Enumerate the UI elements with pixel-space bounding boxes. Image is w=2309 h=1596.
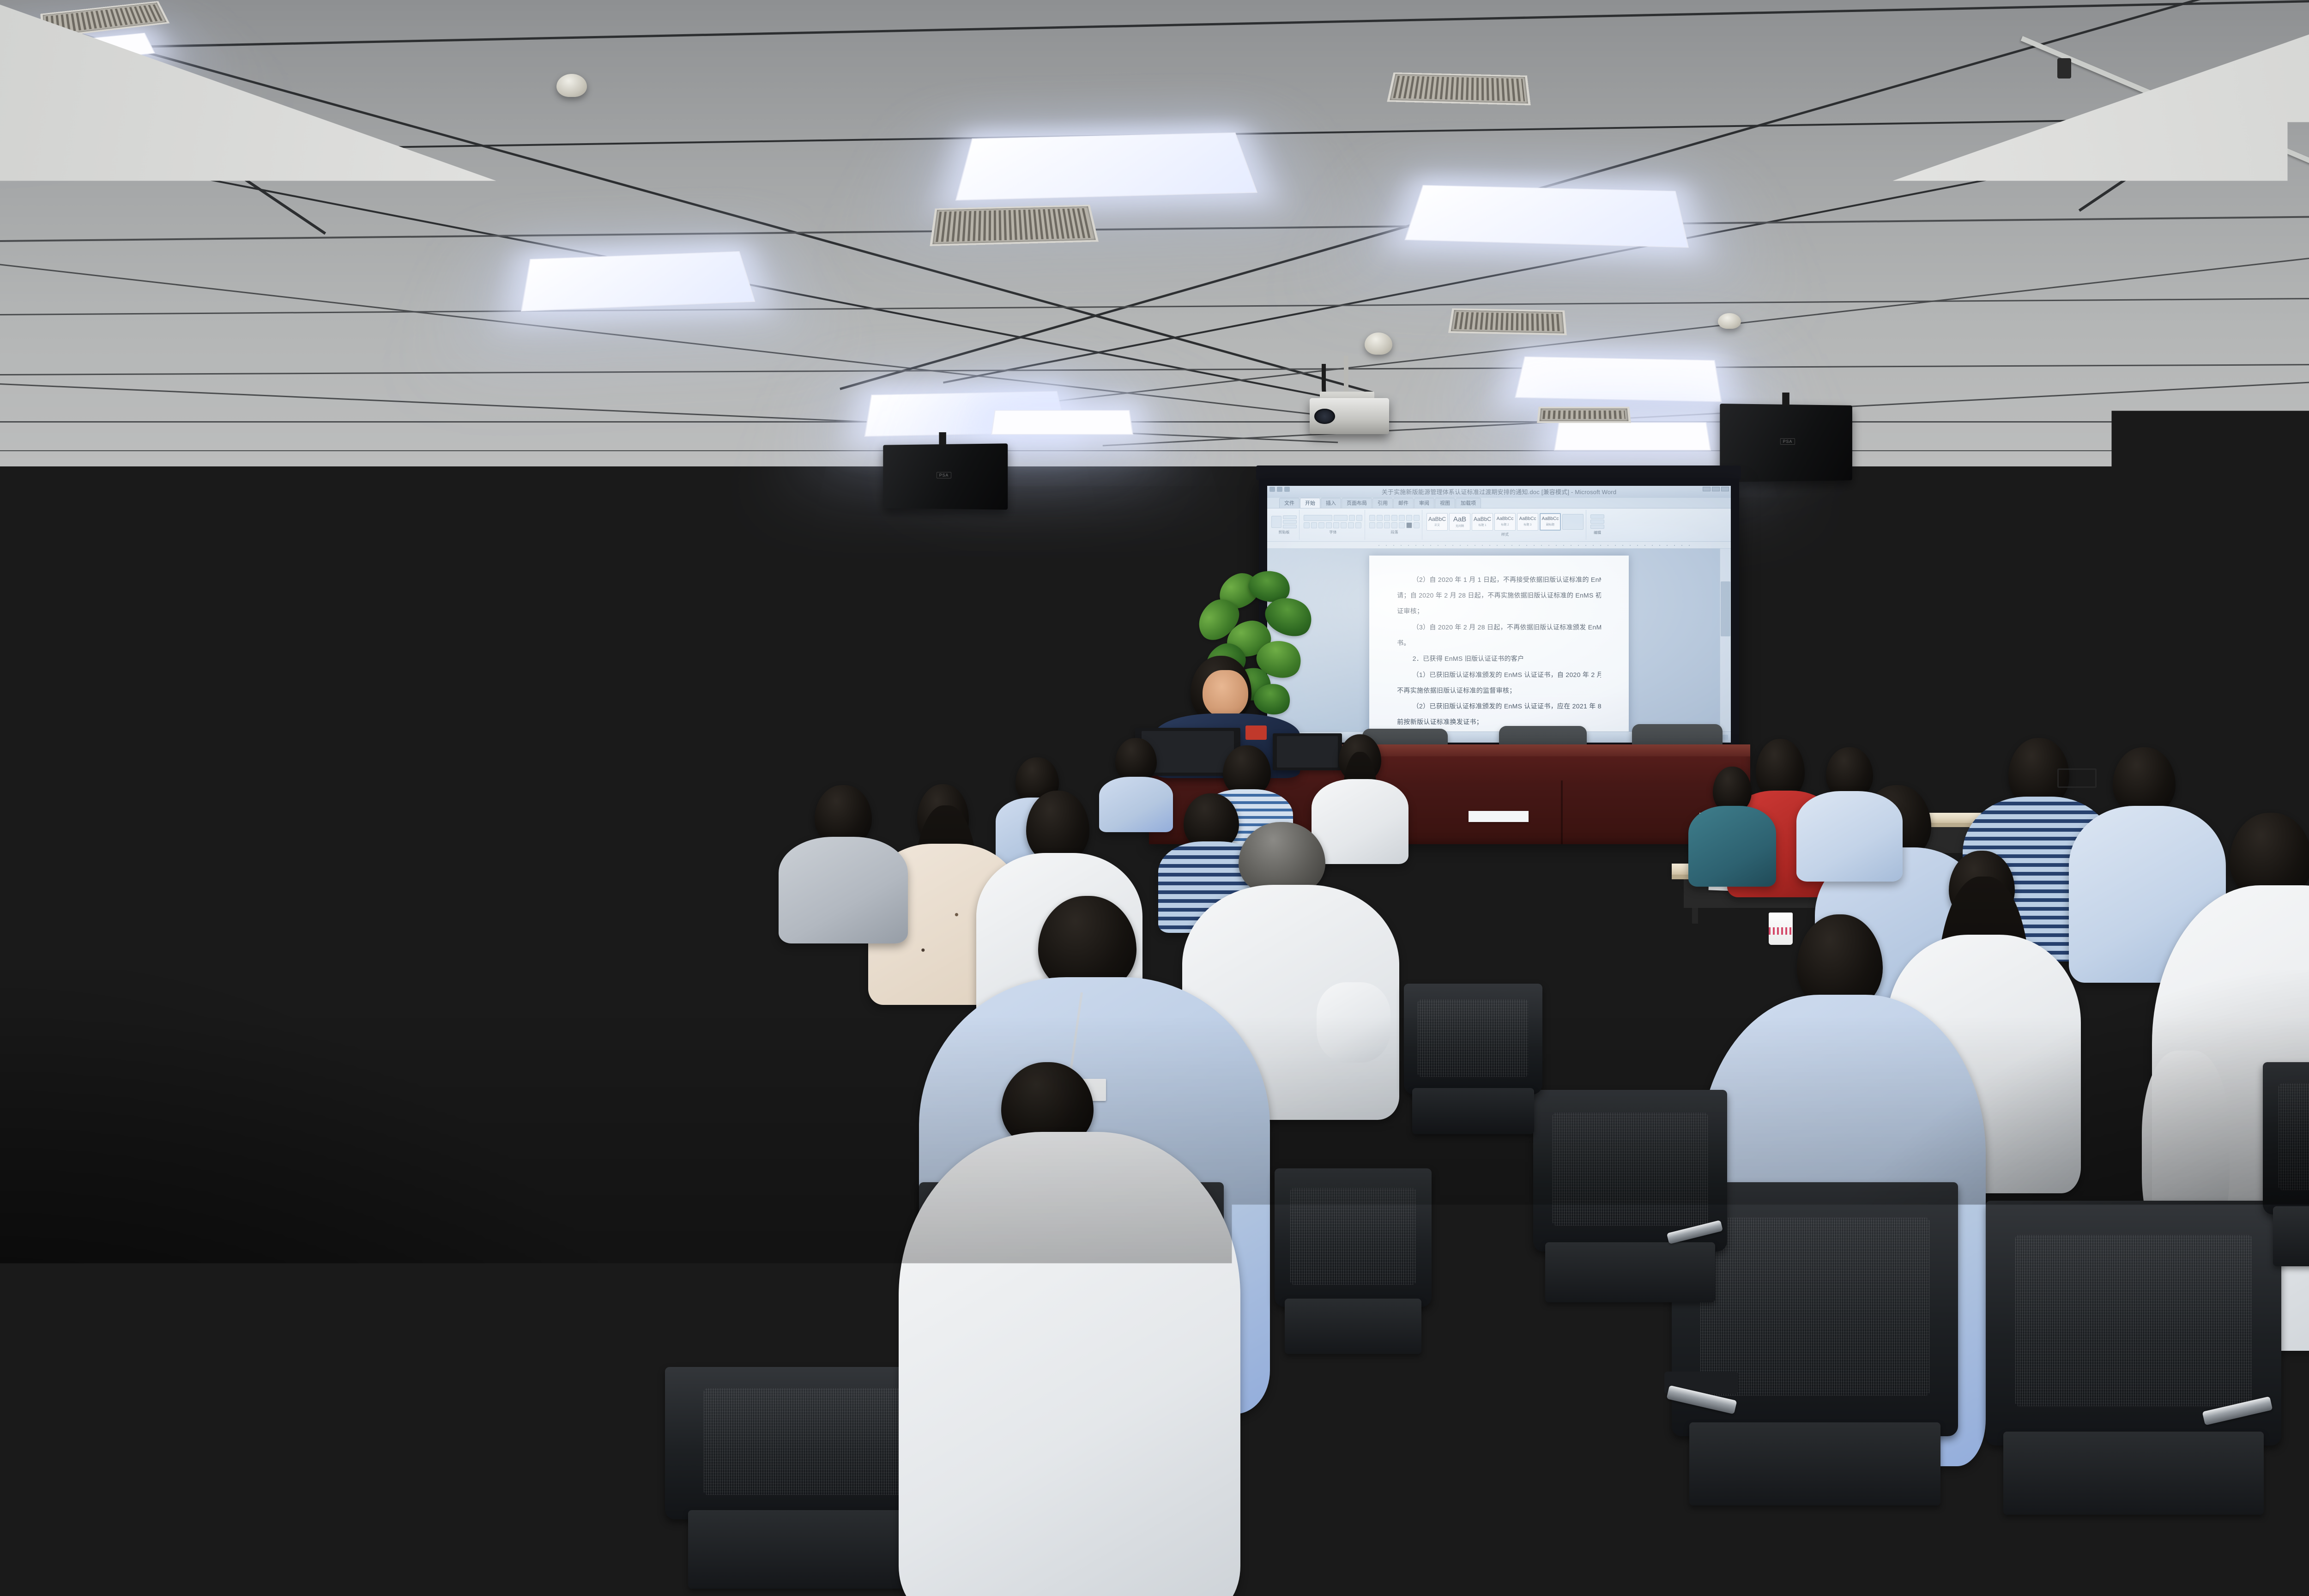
numbering-icon[interactable] bbox=[1377, 515, 1383, 521]
text-color-icon[interactable] bbox=[1348, 522, 1354, 528]
led-panel-light bbox=[955, 133, 1257, 201]
tab-mailings[interactable]: 邮件 bbox=[1393, 498, 1414, 508]
poster-right-1: 互 bbox=[2074, 462, 2105, 715]
ribbon-group-font[interactable]: 字体 bbox=[1301, 510, 1365, 540]
wall-speaker-left: PSA bbox=[883, 443, 1008, 509]
style-heading-2[interactable]: AaBbCc 标题 2 bbox=[1494, 513, 1516, 531]
projection-screen-surface: 关于实施新版能源管理体系认证标准过渡期安排的通知.doc [兼容模式] - Mi… bbox=[1267, 486, 1731, 743]
ribbon-group-clipboard[interactable]: 剪贴板 bbox=[1269, 510, 1300, 540]
tab-references[interactable]: 引用 bbox=[1372, 498, 1393, 508]
quick-access-toolbar[interactable] bbox=[1269, 487, 1290, 492]
strikethrough-icon[interactable] bbox=[1326, 522, 1332, 528]
doc-line: 不再实施依据旧版认证标准的监督审核； bbox=[1397, 683, 1601, 698]
tab-home[interactable]: 开始 bbox=[1300, 498, 1320, 508]
align-center-icon[interactable] bbox=[1377, 522, 1383, 528]
doc-line: （2）自 2020 年 1 月 1 日起，不再接受依据旧版认证标准的 EnMS … bbox=[1397, 572, 1601, 587]
ribbon-group-label: 编辑 bbox=[1590, 530, 1604, 535]
doc-line: 2．已获得 EnMS 旧版认证证书的客户 bbox=[1397, 651, 1601, 666]
font-name-box[interactable] bbox=[1304, 515, 1332, 521]
doc-line: 书。 bbox=[1397, 635, 1601, 651]
paste-icon[interactable] bbox=[1271, 516, 1281, 528]
restroom-sign-text: 洗手间 bbox=[1804, 598, 1841, 612]
font-size-box[interactable] bbox=[1334, 515, 1348, 521]
tab-addins[interactable]: 加载项 bbox=[1456, 498, 1481, 508]
close-icon[interactable] bbox=[1721, 487, 1729, 491]
projection-screen-frame: 关于实施新版能源管理体系认证标准过渡期安排的通知.doc [兼容模式] - Mi… bbox=[1259, 478, 1739, 751]
poster-mutual-aid: 中国质量认证中心China Quality Certification Cent… bbox=[2178, 416, 2284, 747]
ribbon-group-label: 样式 bbox=[1427, 532, 1584, 537]
ribbon[interactable]: 剪贴板 bbox=[1267, 508, 1731, 542]
door-handle[interactable] bbox=[1765, 670, 1770, 695]
poster-new-era: 新时期 新气象 新作为 bbox=[283, 472, 407, 763]
tab-page-layout[interactable]: 页面布局 bbox=[1342, 498, 1372, 508]
word-application-window[interactable]: 关于实施新版能源管理体系认证标准过渡期安排的通知.doc [兼容模式] - Mi… bbox=[1267, 486, 1731, 743]
attendee-right-row2-teal bbox=[1688, 767, 1776, 882]
folded-jacket bbox=[484, 1021, 632, 1090]
attendee-left-row2-olive bbox=[247, 781, 505, 1109]
led-panel-light bbox=[1404, 185, 1689, 248]
style-normal[interactable]: AaBbC 正文 bbox=[1427, 513, 1448, 531]
ribbon-group-label: 段落 bbox=[1369, 530, 1420, 535]
horizontal-ruler[interactable] bbox=[1267, 542, 1731, 548]
minimize-icon[interactable] bbox=[1703, 487, 1711, 491]
ribbon-group-label: 字体 bbox=[1304, 530, 1362, 535]
document-paper bbox=[1469, 811, 1529, 822]
speaker-bracket bbox=[1783, 393, 1790, 405]
shrink-font-icon[interactable] bbox=[1356, 515, 1362, 521]
photo-scene: 新时期 新气象 新作为 观大局 做大事 干实事 互 中国质量认证中心China … bbox=[0, 0, 2309, 1596]
style-heading-1[interactable]: AaBbC 标题 1 bbox=[1472, 513, 1493, 531]
mesh-office-chair[interactable] bbox=[1986, 1201, 2281, 1596]
cut-icon[interactable] bbox=[1283, 515, 1297, 519]
word-document-title: 关于实施新版能源管理体系认证标准过渡期安排的通知.doc [兼容模式] - Mi… bbox=[1382, 487, 1617, 496]
word-title-bar: 关于实施新版能源管理体系认证标准过渡期安排的通知.doc [兼容模式] - Mi… bbox=[1267, 486, 1731, 498]
ribbon-group-editing[interactable]: 编辑 bbox=[1588, 510, 1607, 540]
indent-decrease-icon[interactable] bbox=[1391, 515, 1397, 521]
mesh-office-chair[interactable] bbox=[1533, 1090, 1727, 1348]
style-no-spacing[interactable]: AaB 无间隔 bbox=[1449, 513, 1470, 531]
attendee-left-row4-grey bbox=[779, 785, 908, 937]
restore-icon[interactable] bbox=[1712, 487, 1720, 491]
format-painter-icon[interactable] bbox=[1283, 525, 1297, 528]
doc-line-with-selection: （2）已获旧版认证标准颁发的 EnMS 认证证书，应在 2021 年 8 月 3… bbox=[1397, 698, 1601, 714]
multilevel-icon[interactable] bbox=[1384, 515, 1390, 521]
speaker-brand-label: PSA bbox=[937, 472, 951, 478]
ribbon-group-styles[interactable]: AaBbC 正文 AaB 无间隔 AaBbC 标题 1 bbox=[1424, 510, 1586, 540]
silhouette-figures-icon bbox=[564, 598, 633, 724]
find-icon[interactable] bbox=[1590, 514, 1604, 519]
hvac-vent bbox=[1387, 73, 1530, 105]
highlight-icon[interactable] bbox=[1355, 522, 1361, 528]
ribbon-group-paragraph[interactable]: 段落 bbox=[1367, 510, 1422, 540]
tab-view[interactable]: 视图 bbox=[1435, 498, 1455, 508]
poster-big-picture: 观大局 做大事 干实事 bbox=[560, 504, 638, 726]
attendee-foreground-left-pinstripe bbox=[0, 1076, 286, 1596]
tab-file[interactable]: 文件 bbox=[1279, 498, 1300, 508]
justify-icon[interactable] bbox=[1391, 522, 1397, 528]
scrollbar-thumb[interactable] bbox=[1721, 581, 1730, 636]
mesh-office-chair[interactable] bbox=[1404, 984, 1542, 1159]
document-canvas[interactable]: （2）自 2020 年 1 月 1 日起，不再接受依据旧版认证标准的 EnMS … bbox=[1267, 549, 1731, 731]
line-spacing-icon[interactable] bbox=[1399, 522, 1405, 528]
style-subtitle[interactable]: AaBbCc 副标题 bbox=[1540, 513, 1561, 531]
select-icon[interactable] bbox=[1590, 525, 1604, 529]
smoke-detector-icon bbox=[556, 74, 587, 97]
doc-line: （3）自 2020 年 2 月 28 日起，不再依据旧版认证标准颁发 EnMS … bbox=[1397, 619, 1601, 635]
poster-subtext-mutual-aid: 团结互助 同舟共济 共创未来 bbox=[2231, 490, 2237, 641]
ribbon-group-label: 剪贴板 bbox=[1271, 530, 1297, 535]
copy-icon[interactable] bbox=[1283, 520, 1297, 524]
grow-font-icon[interactable] bbox=[1349, 515, 1355, 521]
bullets-icon[interactable] bbox=[1369, 515, 1375, 521]
attendee-right-row2-lblue-b bbox=[1796, 747, 1903, 877]
style-heading-3[interactable]: AaBbCc 标题 3 bbox=[1517, 513, 1538, 531]
track-spotlight bbox=[2057, 58, 2071, 79]
ribbon-tab-strip[interactable]: 文件 开始 插入 页面布局 引用 邮件 审阅 视图 加载项 bbox=[1267, 498, 1731, 508]
indent-increase-icon[interactable] bbox=[1399, 515, 1405, 521]
align-right-icon[interactable] bbox=[1384, 522, 1390, 528]
vertical-scrollbar[interactable] bbox=[1720, 549, 1731, 731]
align-left-icon[interactable] bbox=[1369, 522, 1375, 528]
poster-left-far bbox=[0, 438, 40, 789]
window-controls[interactable] bbox=[1703, 487, 1729, 491]
doc-line: （1）已获旧版认证标准颁发的 EnMS 认证证书，自 2020 年 2 月 28… bbox=[1397, 667, 1601, 683]
restroom-sign: 洗手间 bbox=[1788, 577, 1856, 620]
attendee-left-row3-striped bbox=[482, 767, 667, 984]
tab-review[interactable]: 审阅 bbox=[1414, 498, 1434, 508]
presenter-shirt-accent bbox=[1245, 725, 1267, 740]
underline-icon[interactable] bbox=[1318, 522, 1324, 528]
subscript-icon[interactable] bbox=[1333, 522, 1339, 528]
redo-icon[interactable] bbox=[1284, 487, 1290, 492]
shading-icon[interactable] bbox=[1406, 522, 1412, 528]
tab-insert[interactable]: 插入 bbox=[1321, 498, 1341, 508]
doc-line: 请；自 2020 年 2 月 28 日起，不再实施依据旧版认证标准的 EnMS … bbox=[1397, 587, 1601, 603]
italic-icon[interactable] bbox=[1311, 522, 1317, 528]
superscript-icon[interactable] bbox=[1341, 522, 1347, 528]
replace-icon[interactable] bbox=[1590, 520, 1604, 524]
hvac-vent bbox=[930, 205, 1099, 246]
bold-icon[interactable] bbox=[1304, 522, 1310, 528]
borders-icon[interactable] bbox=[1414, 522, 1420, 528]
show-marks-icon[interactable] bbox=[1414, 515, 1420, 521]
speaker-brand-label: PSA bbox=[1780, 438, 1795, 445]
organization-logo: 中国质量认证中心China Quality Certification Cent… bbox=[2189, 431, 2239, 438]
attendee-foreground-center-white bbox=[899, 1062, 1240, 1596]
glasses-icon bbox=[593, 792, 637, 812]
sort-icon[interactable] bbox=[1406, 515, 1412, 521]
speaker-bracket bbox=[939, 432, 946, 445]
doc-line: 证审核； bbox=[1397, 603, 1601, 619]
mesh-office-chair[interactable] bbox=[1275, 1168, 1432, 1390]
mesh-office-chair[interactable] bbox=[2263, 1062, 2309, 1302]
smoke-detector-icon bbox=[1365, 332, 1392, 355]
change-styles-icon[interactable] bbox=[1562, 514, 1584, 530]
grey-pinstripe-shirt bbox=[0, 1144, 286, 1596]
document-page[interactable]: （2）自 2020 年 1 月 1 日起，不再接受依据旧版认证标准的 EnMS … bbox=[1369, 556, 1629, 731]
save-icon[interactable] bbox=[1269, 487, 1275, 492]
striped-polo-shirt bbox=[482, 825, 667, 990]
restroom-arrow-icon: 洗手间 bbox=[1788, 577, 1856, 620]
undo-icon[interactable] bbox=[1277, 487, 1282, 492]
